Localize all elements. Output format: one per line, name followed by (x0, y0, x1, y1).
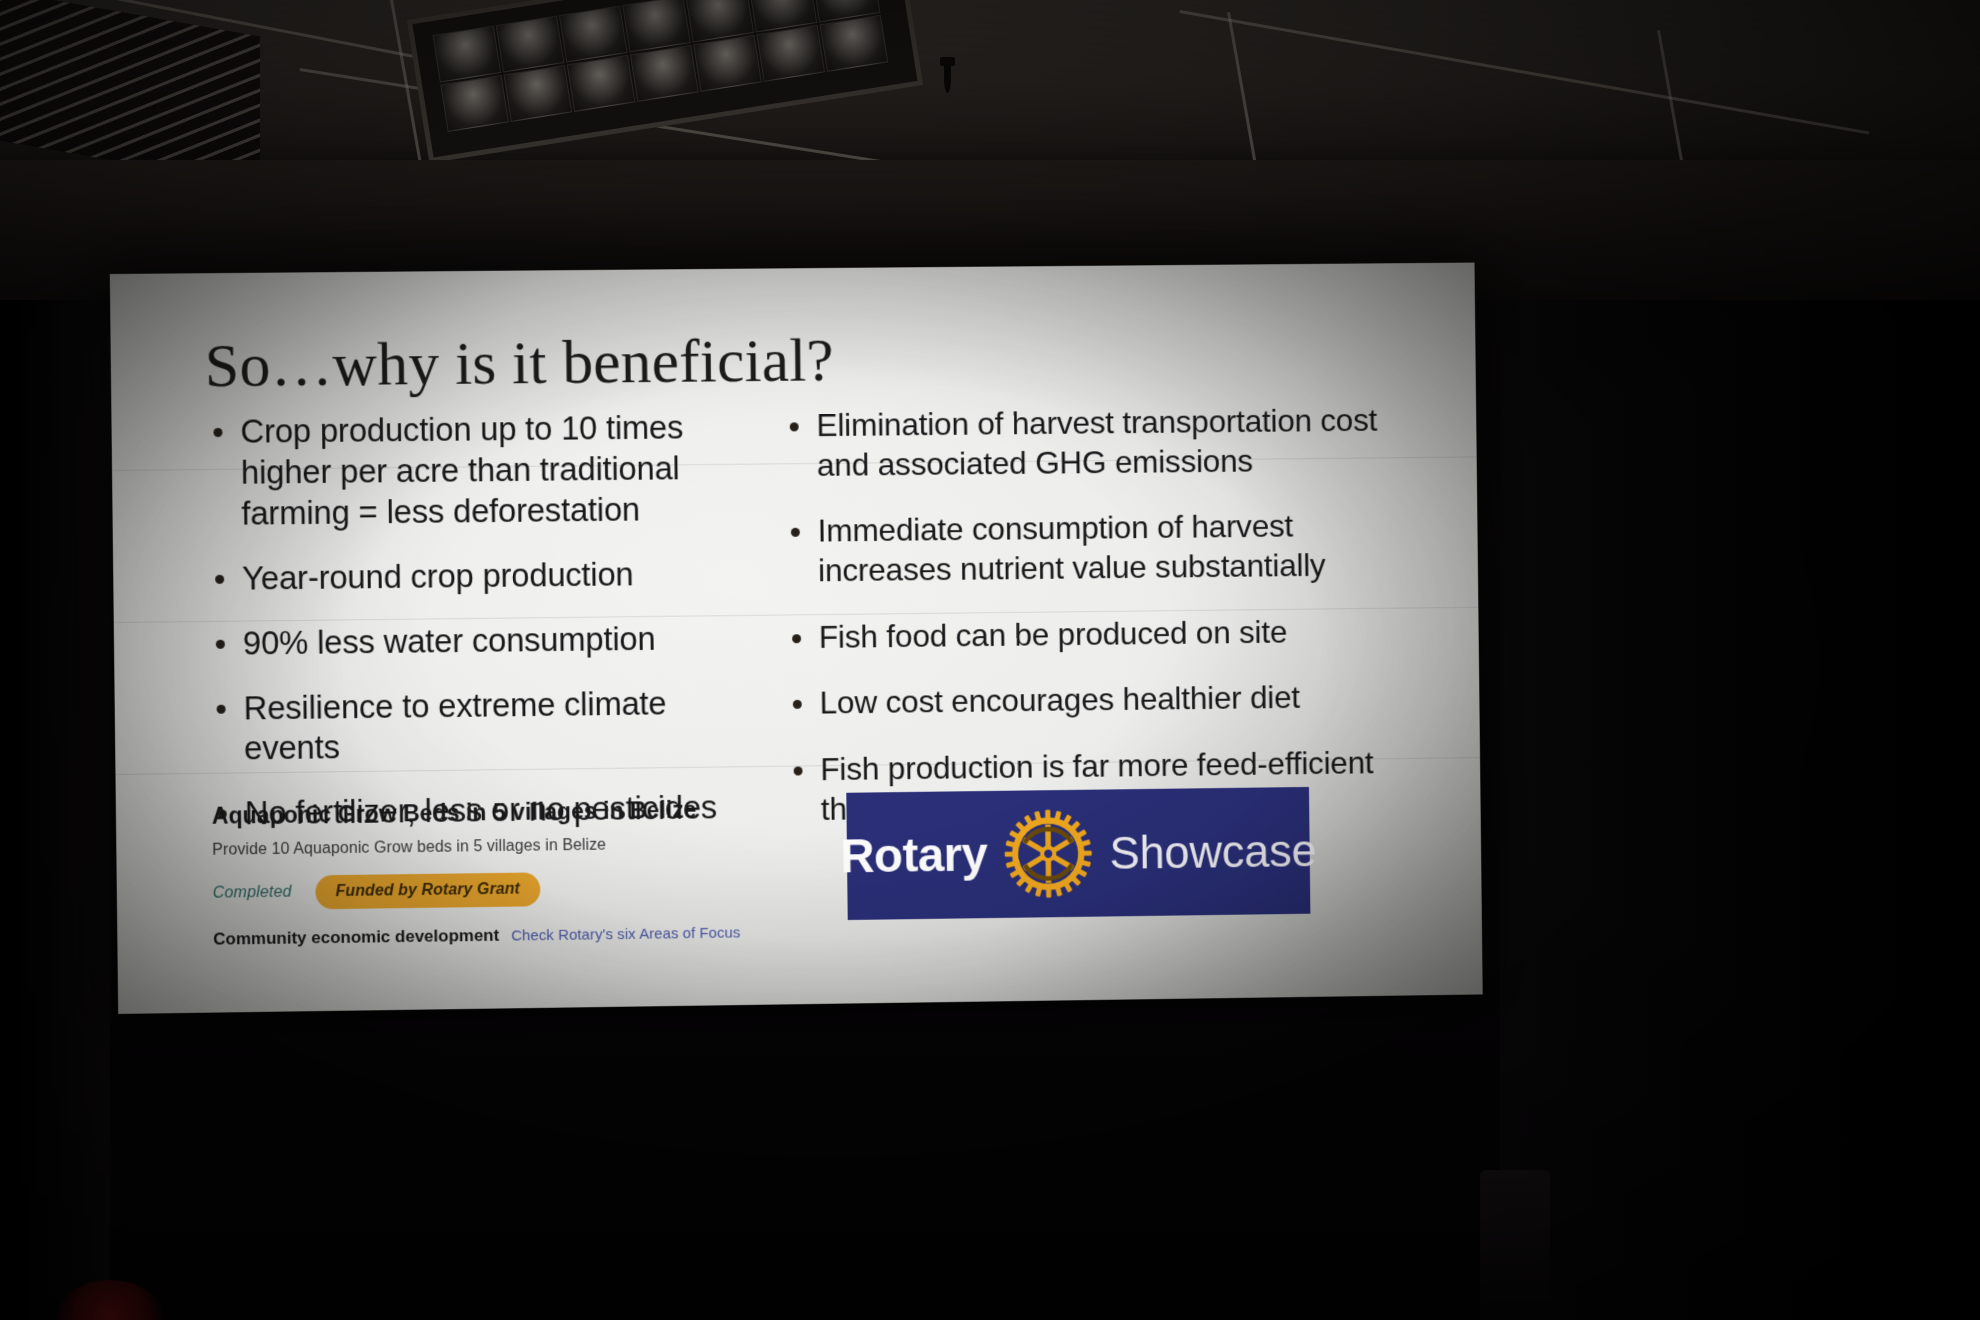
projection-screen: So…why is it beneficial? Crop production… (110, 263, 1483, 1014)
ceiling-tile-seam (1179, 10, 1869, 135)
area-of-focus-label: Community economic development (213, 926, 499, 950)
list-item: Fish food can be produced on site (786, 611, 1389, 657)
funding-badge: Funded by Rotary Grant (315, 872, 540, 909)
ceiling-tile-seam (1657, 30, 1698, 180)
list-item: Year-round crop production (209, 553, 756, 600)
fire-sprinkler-icon (944, 63, 951, 93)
ceiling-tile-seam (1227, 12, 1275, 180)
list-item: Crop production up to 10 times higher pe… (207, 407, 755, 535)
ceiling (0, 0, 1980, 180)
grant-title: Aquaponic Grow Beds in 5 villages in Bel… (212, 796, 769, 830)
rotary-brand-text: Rotary (840, 827, 988, 884)
list-item: 90% less water consumption (210, 617, 757, 664)
left-wall-shadow (0, 300, 110, 1320)
grant-footer-row: Community economic development Check Rot… (213, 922, 770, 950)
grant-badge-row: Completed Funded by Rotary Grant (213, 869, 770, 910)
right-wall-shadow (1500, 300, 1980, 1320)
presentation-slide: So…why is it beneficial? Crop production… (110, 263, 1483, 1014)
rotary-showcase-logo: Rotary (846, 787, 1310, 920)
ceiling-light-fixture (407, 0, 924, 163)
list-item: Elimination of harvest transportation co… (784, 401, 1387, 486)
list-item: Resilience to extreme climate events (210, 682, 758, 770)
list-item: Immediate consumption of harvest increas… (785, 506, 1388, 591)
areas-of-focus-link[interactable]: Check Rotary's six Areas of Focus (511, 924, 740, 944)
page-title: So…why is it beneficial? (204, 320, 1431, 402)
list-item: Low cost encourages healthier diet (787, 677, 1390, 724)
status-badge: Completed (213, 884, 292, 903)
grant-subtitle: Provide 10 Aquaponic Grow beds in 5 vill… (212, 835, 769, 860)
grant-project-card: Aquaponic Grow Beds in 5 villages in Bel… (212, 796, 770, 950)
air-vent-icon (0, 0, 260, 180)
showcase-text: Showcase (1109, 823, 1317, 879)
right-bullet-list: Elimination of harvest transportation co… (784, 401, 1391, 830)
chair-silhouette (1480, 1170, 1550, 1320)
conference-room-scene: So…why is it beneficial? Crop production… (0, 0, 1980, 1320)
rotary-gear-wheel-icon (1003, 808, 1095, 900)
